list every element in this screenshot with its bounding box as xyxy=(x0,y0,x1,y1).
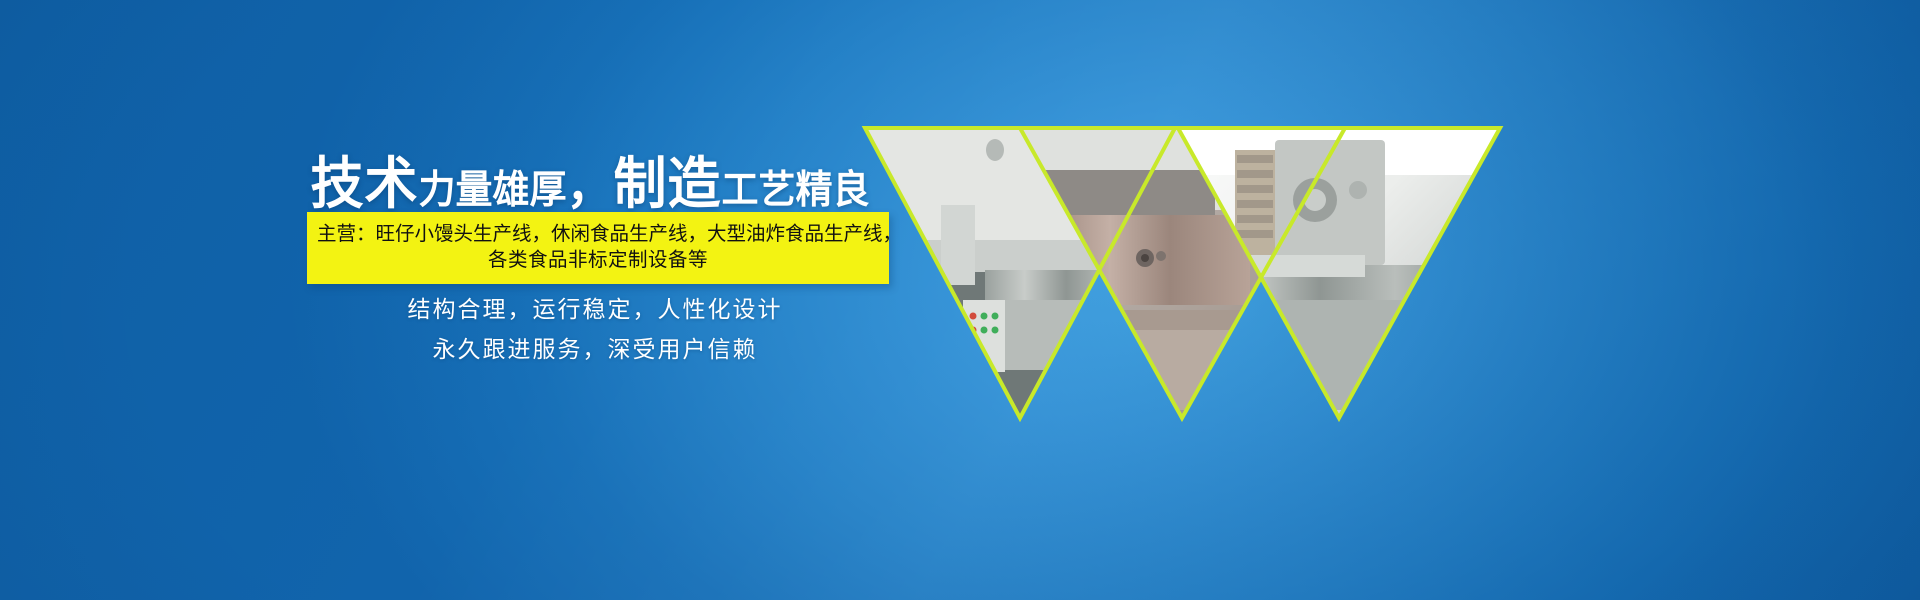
page-title: 技术力量雄厚，制造工艺精良 xyxy=(300,156,880,212)
subtitle-line-1: 结构合理，运行稳定，人性化设计 xyxy=(300,298,890,321)
triangle-photo-group xyxy=(845,0,1920,600)
triangle-svg-canvas xyxy=(845,0,1920,600)
highlight-line-1: 主营：旺仔小馒头生产线，休闲食品生产线，大型油炸食品生产线， xyxy=(317,221,879,247)
headline-part-3: 制造 xyxy=(614,153,722,216)
highlight-box: 主营：旺仔小馒头生产线，休闲食品生产线，大型油炸食品生产线， 各类食品非标定制设… xyxy=(307,212,889,284)
highlight-line-2: 各类食品非标定制设备等 xyxy=(317,247,879,273)
promo-banner: 技术力量雄厚，制造工艺精良 主营：旺仔小馒头生产线，休闲食品生产线，大型油炸食品… xyxy=(0,0,1920,600)
subtitle-line-2: 永久跟进服务，深受用户信赖 xyxy=(300,338,890,361)
text-column: 技术力量雄厚，制造工艺精良 主营：旺仔小馒头生产线，休闲食品生产线，大型油炸食品… xyxy=(0,0,920,600)
headline-comma: ， xyxy=(567,159,614,214)
headline-part-1: 技术 xyxy=(311,153,419,216)
headline-part-2: 力量雄厚 xyxy=(419,168,567,211)
